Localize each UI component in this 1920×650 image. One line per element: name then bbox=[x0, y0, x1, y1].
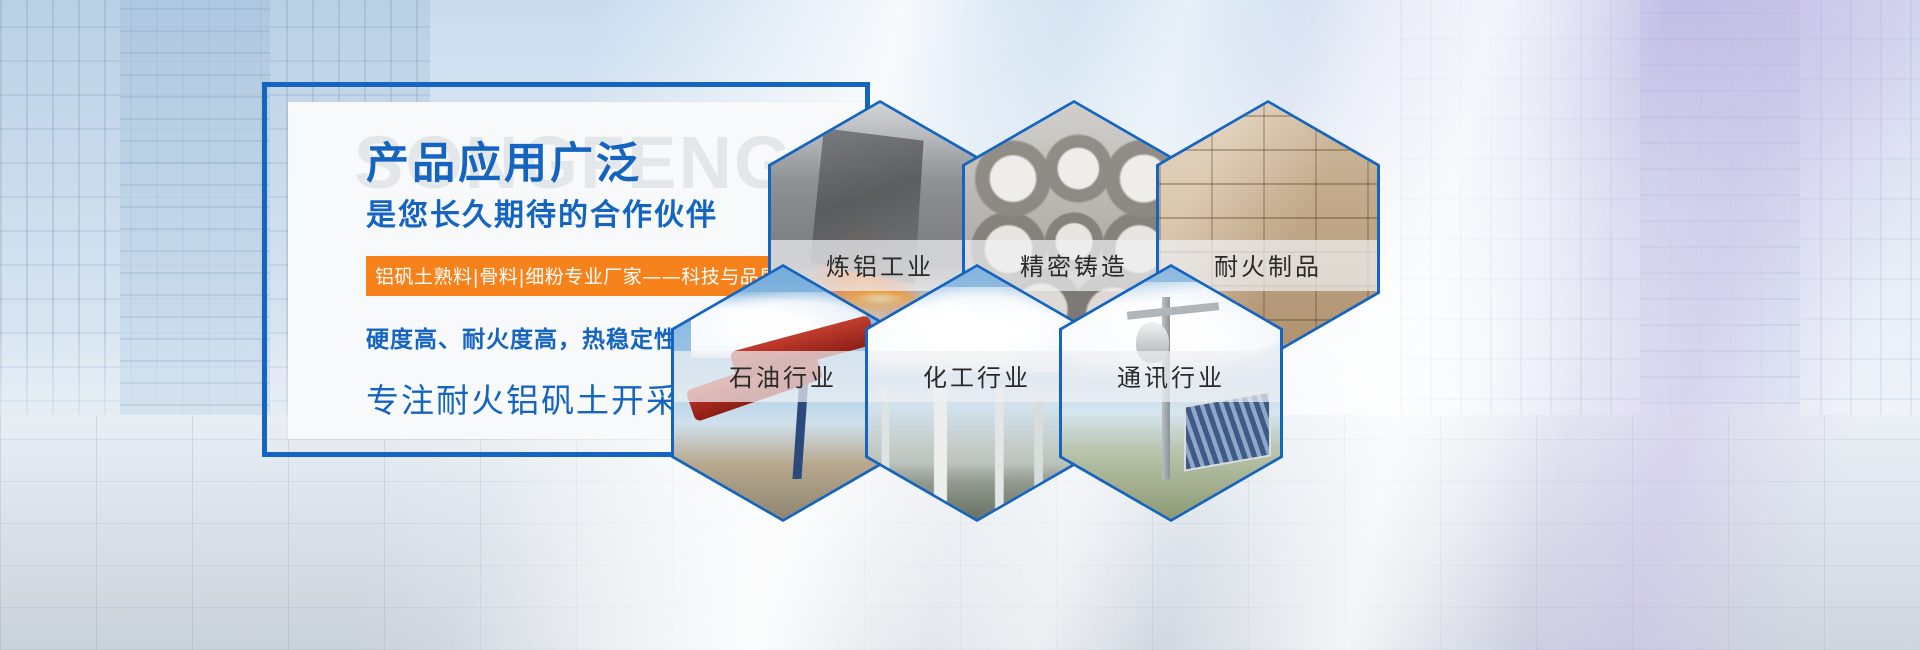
promotional-banner: SONGFENG 产品应用广泛 是您长久期待的合作伙伴 铝矾土熟料|骨料|细粉专… bbox=[0, 0, 1920, 650]
hex-label: 通讯行业 bbox=[1062, 351, 1280, 402]
hex-label: 化工行业 bbox=[868, 351, 1086, 402]
industry-hexagon-grid: 炼铝工业 精密铸造 耐火制品 石 bbox=[680, 78, 1400, 548]
hex-label: 石油行业 bbox=[674, 351, 892, 402]
